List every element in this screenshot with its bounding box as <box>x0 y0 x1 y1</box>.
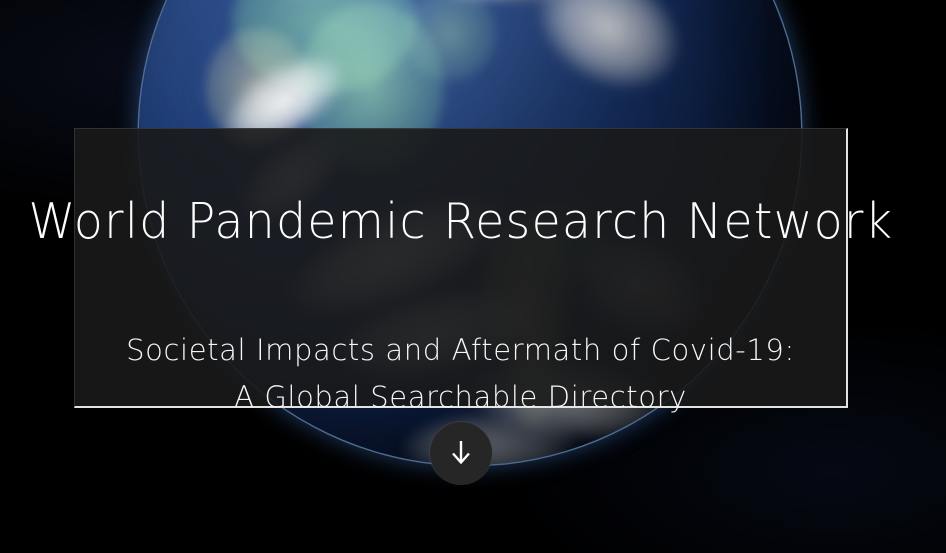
hero-overlay-panel: World Pandemic Research Network Societal… <box>74 128 848 408</box>
page-title: World Pandemic Research Network <box>28 196 893 247</box>
hero-banner: World Pandemic Research Network Societal… <box>0 0 946 553</box>
scroll-down-button[interactable]: Scroll down <box>430 422 492 484</box>
page-subtitle: Societal Impacts and Aftermath of Covid-… <box>126 327 795 421</box>
page-subtitle-line-1: Societal Impacts and Aftermath of Covid-… <box>126 327 795 374</box>
arrow-down-icon <box>450 440 472 466</box>
page-subtitle-line-2: A Global Searchable Directory <box>126 374 795 421</box>
